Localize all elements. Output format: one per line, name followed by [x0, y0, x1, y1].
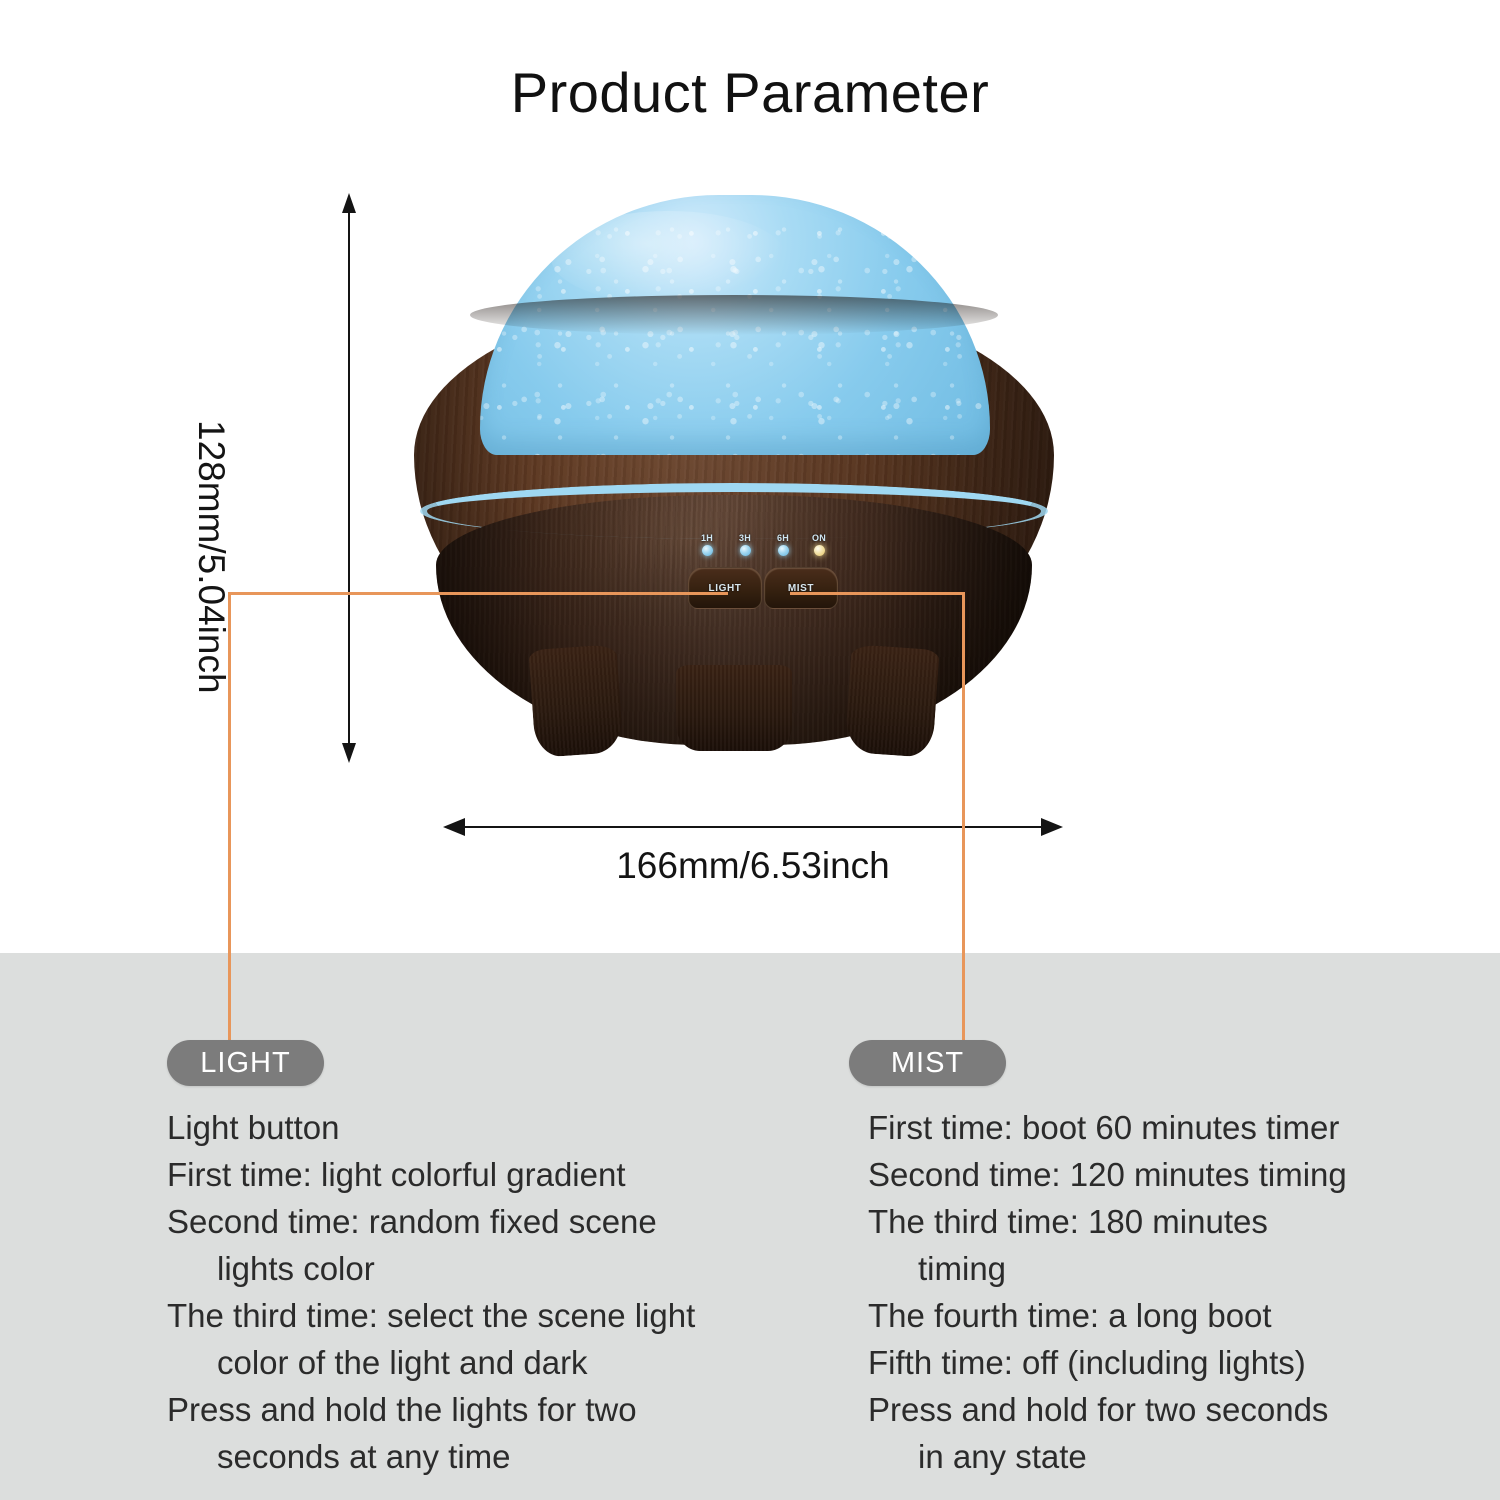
led-indicator-3h: 3H: [732, 533, 758, 556]
light-desc-line: The third time: select the scene light: [167, 1292, 807, 1339]
light-hardware-button[interactable]: LIGHT: [688, 567, 762, 609]
light-desc-line: Press and hold the lights for two: [167, 1386, 807, 1433]
height-dimension-label: 128mm/5.04inch: [190, 420, 232, 694]
width-dimension-arrow: [443, 818, 1063, 838]
led-dot-1h: [702, 545, 713, 556]
light-desc-line: seconds at any time: [167, 1433, 807, 1480]
connector-line-light-horizontal: [228, 592, 728, 595]
connector-line-mist-horizontal: [790, 592, 965, 595]
product-leg-right: [844, 644, 939, 758]
product-control-panel: 1H 3H 6H ON: [686, 533, 838, 609]
product-image-diffuser: 1H 3H 6H ON: [414, 195, 1054, 775]
mist-hardware-button[interactable]: MIST: [764, 567, 838, 609]
light-description-column: Light button First time: light colorful …: [167, 1104, 807, 1480]
light-desc-line: color of the light and dark: [167, 1339, 807, 1386]
led-label-on: ON: [806, 533, 832, 543]
mist-desc-line: timing: [868, 1245, 1428, 1292]
infographic-stage: Product Parameter: [0, 0, 1500, 1500]
top-section: Product Parameter: [0, 0, 1500, 953]
led-dot-6h: [778, 545, 789, 556]
mist-desc-line: The fourth time: a long boot: [868, 1292, 1428, 1339]
led-label-3h: 3H: [732, 533, 758, 543]
height-dimension-arrow: [342, 193, 356, 763]
width-dimension-label: 166mm/6.53inch: [443, 845, 1063, 887]
product-leg-left: [528, 644, 623, 758]
callout-badge-light-label: LIGHT: [200, 1047, 290, 1080]
connector-line-mist-vertical: [962, 592, 965, 1044]
mist-desc-line: First time: boot 60 minutes timer: [868, 1104, 1428, 1151]
light-desc-line: First time: light colorful gradient: [167, 1151, 807, 1198]
height-dimension-line: [348, 205, 350, 751]
arrow-right-icon: [1041, 818, 1063, 836]
dome-gloss-highlight: [551, 211, 786, 305]
mist-desc-line: Second time: 120 minutes timing: [868, 1151, 1428, 1198]
product-dome-seam: [470, 295, 998, 335]
callout-badge-light: LIGHT: [167, 1040, 324, 1086]
connector-line-light-vertical: [228, 592, 231, 1044]
light-desc-line: lights color: [167, 1245, 807, 1292]
mist-desc-line: in any state: [868, 1433, 1428, 1480]
mist-desc-line: The third time: 180 minutes: [868, 1198, 1428, 1245]
led-dot-on: [814, 545, 825, 556]
led-indicator-1h: 1H: [694, 533, 720, 556]
led-indicator-6h: 6H: [770, 533, 796, 556]
led-dot-3h: [740, 545, 751, 556]
light-desc-line: Light button: [167, 1104, 807, 1151]
mist-description-column: First time: boot 60 minutes timer Second…: [868, 1104, 1428, 1480]
timer-led-row: 1H 3H 6H ON: [694, 533, 834, 565]
page-title: Product Parameter: [0, 60, 1500, 125]
arrow-down-icon: [342, 743, 356, 763]
hardware-button-row: LIGHT MIST: [686, 567, 838, 609]
light-desc-line: Second time: random fixed scene: [167, 1198, 807, 1245]
mist-desc-line: Press and hold for two seconds: [868, 1386, 1428, 1433]
mist-desc-line: Fifth time: off (including lights): [868, 1339, 1428, 1386]
callout-badge-mist: MIST: [849, 1040, 1006, 1086]
led-label-1h: 1H: [694, 533, 720, 543]
led-indicator-on: ON: [806, 533, 832, 556]
product-leg-middle: [676, 665, 792, 751]
callout-badge-mist-label: MIST: [891, 1047, 964, 1080]
led-label-6h: 6H: [770, 533, 796, 543]
